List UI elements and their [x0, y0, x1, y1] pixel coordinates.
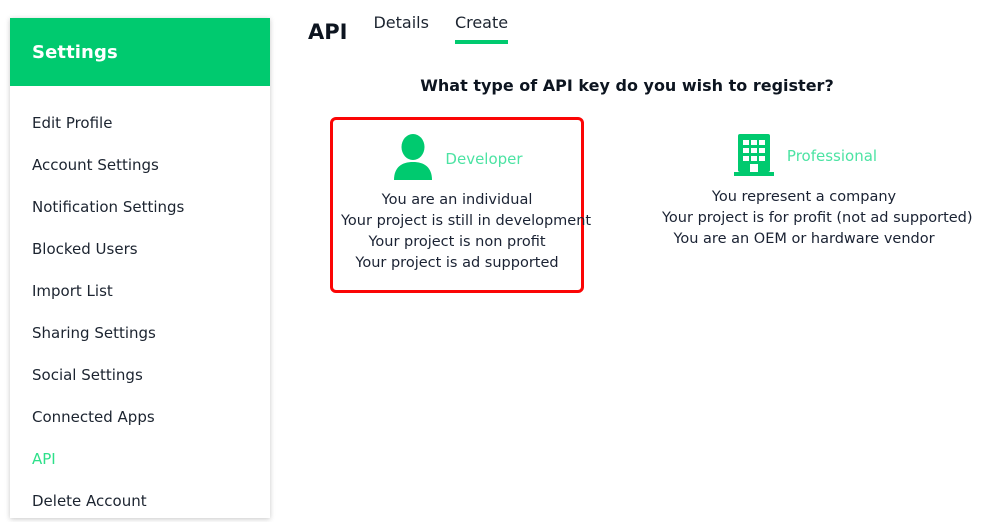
tab-bar: API Details Create	[300, 0, 994, 44]
developer-line-3: Your project is non profit	[341, 232, 573, 253]
professional-line-3: You are an OEM or hardware vendor	[662, 229, 946, 250]
settings-title: Settings	[32, 42, 118, 63]
sidebar-item-edit-profile[interactable]: Edit Profile	[10, 102, 270, 144]
person-icon	[391, 134, 435, 184]
sidebar-item-import-list[interactable]: Import List	[10, 270, 270, 312]
developer-label: Developer	[445, 149, 522, 169]
option-card-professional[interactable]: Professional You represent a company You…	[654, 117, 954, 266]
professional-label: Professional	[787, 146, 877, 166]
developer-line-2: Your project is still in development	[341, 211, 573, 232]
professional-card-head: Professional	[662, 131, 946, 181]
building-icon	[731, 131, 777, 181]
main-content: API Details Create What type of API key …	[300, 0, 994, 522]
sidebar-item-notification-settings[interactable]: Notification Settings	[10, 186, 270, 228]
question-heading: What type of API key do you wish to regi…	[300, 76, 994, 95]
professional-line-1: You represent a company	[662, 187, 946, 208]
developer-card-head: Developer	[341, 134, 573, 184]
professional-description: You represent a company Your project is …	[662, 187, 946, 250]
developer-line-1: You are an individual	[341, 190, 573, 211]
api-key-type-options: Developer You are an individual Your pro…	[300, 117, 994, 293]
professional-line-2: Your project is for profit (not ad suppo…	[662, 208, 946, 229]
sidebar-item-api[interactable]: API	[10, 438, 270, 480]
sidebar-item-connected-apps[interactable]: Connected Apps	[10, 396, 270, 438]
settings-panel-header: Settings	[10, 18, 270, 86]
developer-line-4: Your project is ad supported	[341, 253, 573, 274]
sidebar-item-blocked-users[interactable]: Blocked Users	[10, 228, 270, 270]
sidebar-item-social-settings[interactable]: Social Settings	[10, 354, 270, 396]
tab-create[interactable]: Create	[455, 11, 508, 44]
sidebar-item-sharing-settings[interactable]: Sharing Settings	[10, 312, 270, 354]
developer-description: You are an individual Your project is st…	[341, 190, 573, 274]
sidebar-item-delete-account[interactable]: Delete Account	[10, 480, 270, 522]
settings-nav: Edit Profile Account Settings Notificati…	[10, 86, 270, 522]
settings-panel: Settings Edit Profile Account Settings N…	[10, 18, 270, 518]
tab-details[interactable]: Details	[373, 11, 428, 44]
page-title: API	[308, 20, 347, 44]
option-card-developer[interactable]: Developer You are an individual Your pro…	[330, 117, 584, 293]
sidebar-item-account-settings[interactable]: Account Settings	[10, 144, 270, 186]
